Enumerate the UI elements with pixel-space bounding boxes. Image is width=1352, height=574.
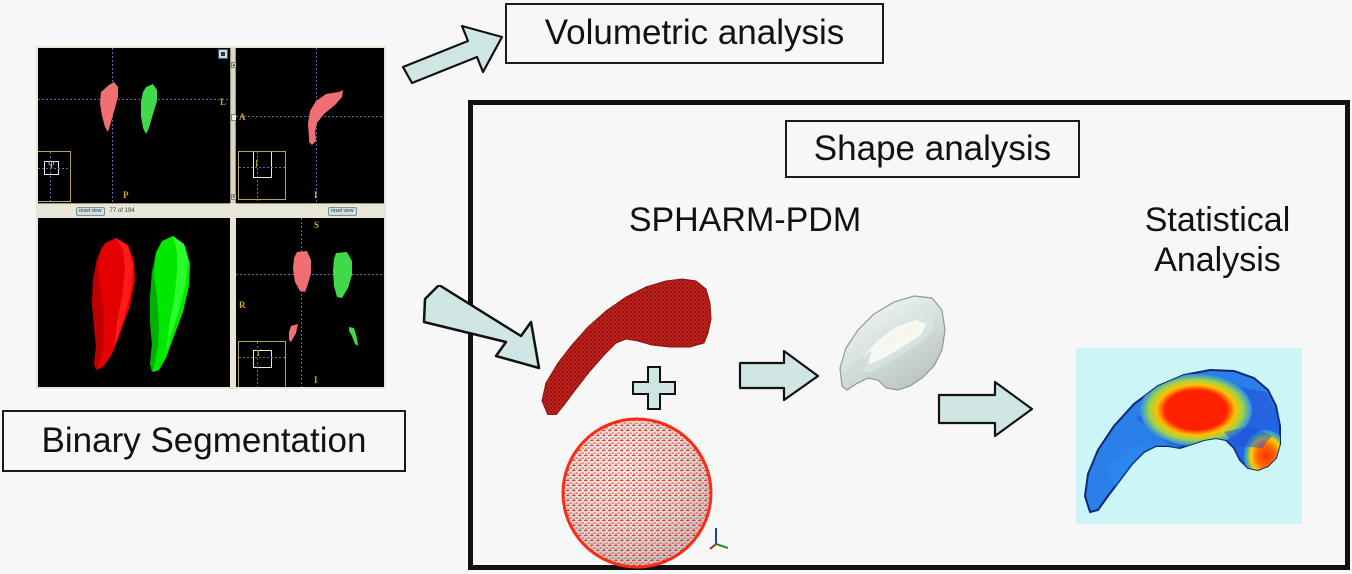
viewer-pane-3d-render[interactable] [38, 218, 230, 387]
spharm-reconstructed-surface [838, 268, 1028, 428]
orientation-letter-L: L [220, 97, 226, 107]
volumetric-analysis-label: Volumetric analysis [545, 15, 845, 52]
status-bar-sagittal: reset view [236, 203, 384, 218]
arrow-pointcloud-to-surface [736, 345, 836, 415]
orientation-letter-A: A [239, 112, 246, 122]
reset-view-button-sagittal[interactable]: reset view [328, 207, 357, 216]
orientation-letter-P: P [123, 190, 129, 200]
arrow-to-volumetric [395, 15, 525, 110]
navigation-inset-sagittal[interactable]: ʃ [238, 151, 286, 200]
axis-orientation-icon [708, 524, 732, 550]
shape-analysis-label: Shape analysis [814, 131, 1051, 168]
parameterized-sphere [560, 415, 715, 570]
plus-symbol [630, 364, 678, 412]
navigation-inset-coronal[interactable]: ϒ [238, 341, 286, 387]
status-bar-axial: reset view 77 of 194 [38, 203, 230, 218]
spharm-pdm-label: SPHARM-PDM [580, 200, 910, 240]
viewer-pane-sagittal[interactable]: A I ʃ [236, 48, 384, 203]
shape-analysis-box: Shape analysis [785, 120, 1080, 178]
navigation-inset-axial[interactable]: Ψ [38, 151, 71, 202]
segmentation-viewer[interactable]: L P Ψ ▲ ▼ A I ʃ reset view 77 [36, 46, 386, 389]
orientation-letter-I: I [314, 375, 318, 385]
statistical-analysis-label: Statistical Analysis [1085, 200, 1350, 280]
viewer-settings-icon[interactable] [218, 49, 228, 59]
volumetric-analysis-box: Volumetric analysis [505, 3, 884, 64]
orientation-letter-S: S [314, 220, 319, 230]
orientation-letter-R: R [239, 300, 246, 310]
reset-view-button-axial[interactable]: reset view [76, 207, 105, 216]
3d-hippocampi [38, 218, 230, 387]
binary-segmentation-label: Binary Segmentation [42, 423, 367, 460]
viewer-pane-axial[interactable]: L P Ψ [38, 48, 230, 203]
statistical-significance-map [1076, 348, 1302, 524]
binary-segmentation-box: Binary Segmentation [2, 410, 406, 472]
orientation-letter-I: I [314, 190, 318, 200]
slice-counter-axial: 77 of 194 [110, 208, 135, 214]
viewer-pane-coronal[interactable]: S R I ϒ [236, 218, 384, 387]
